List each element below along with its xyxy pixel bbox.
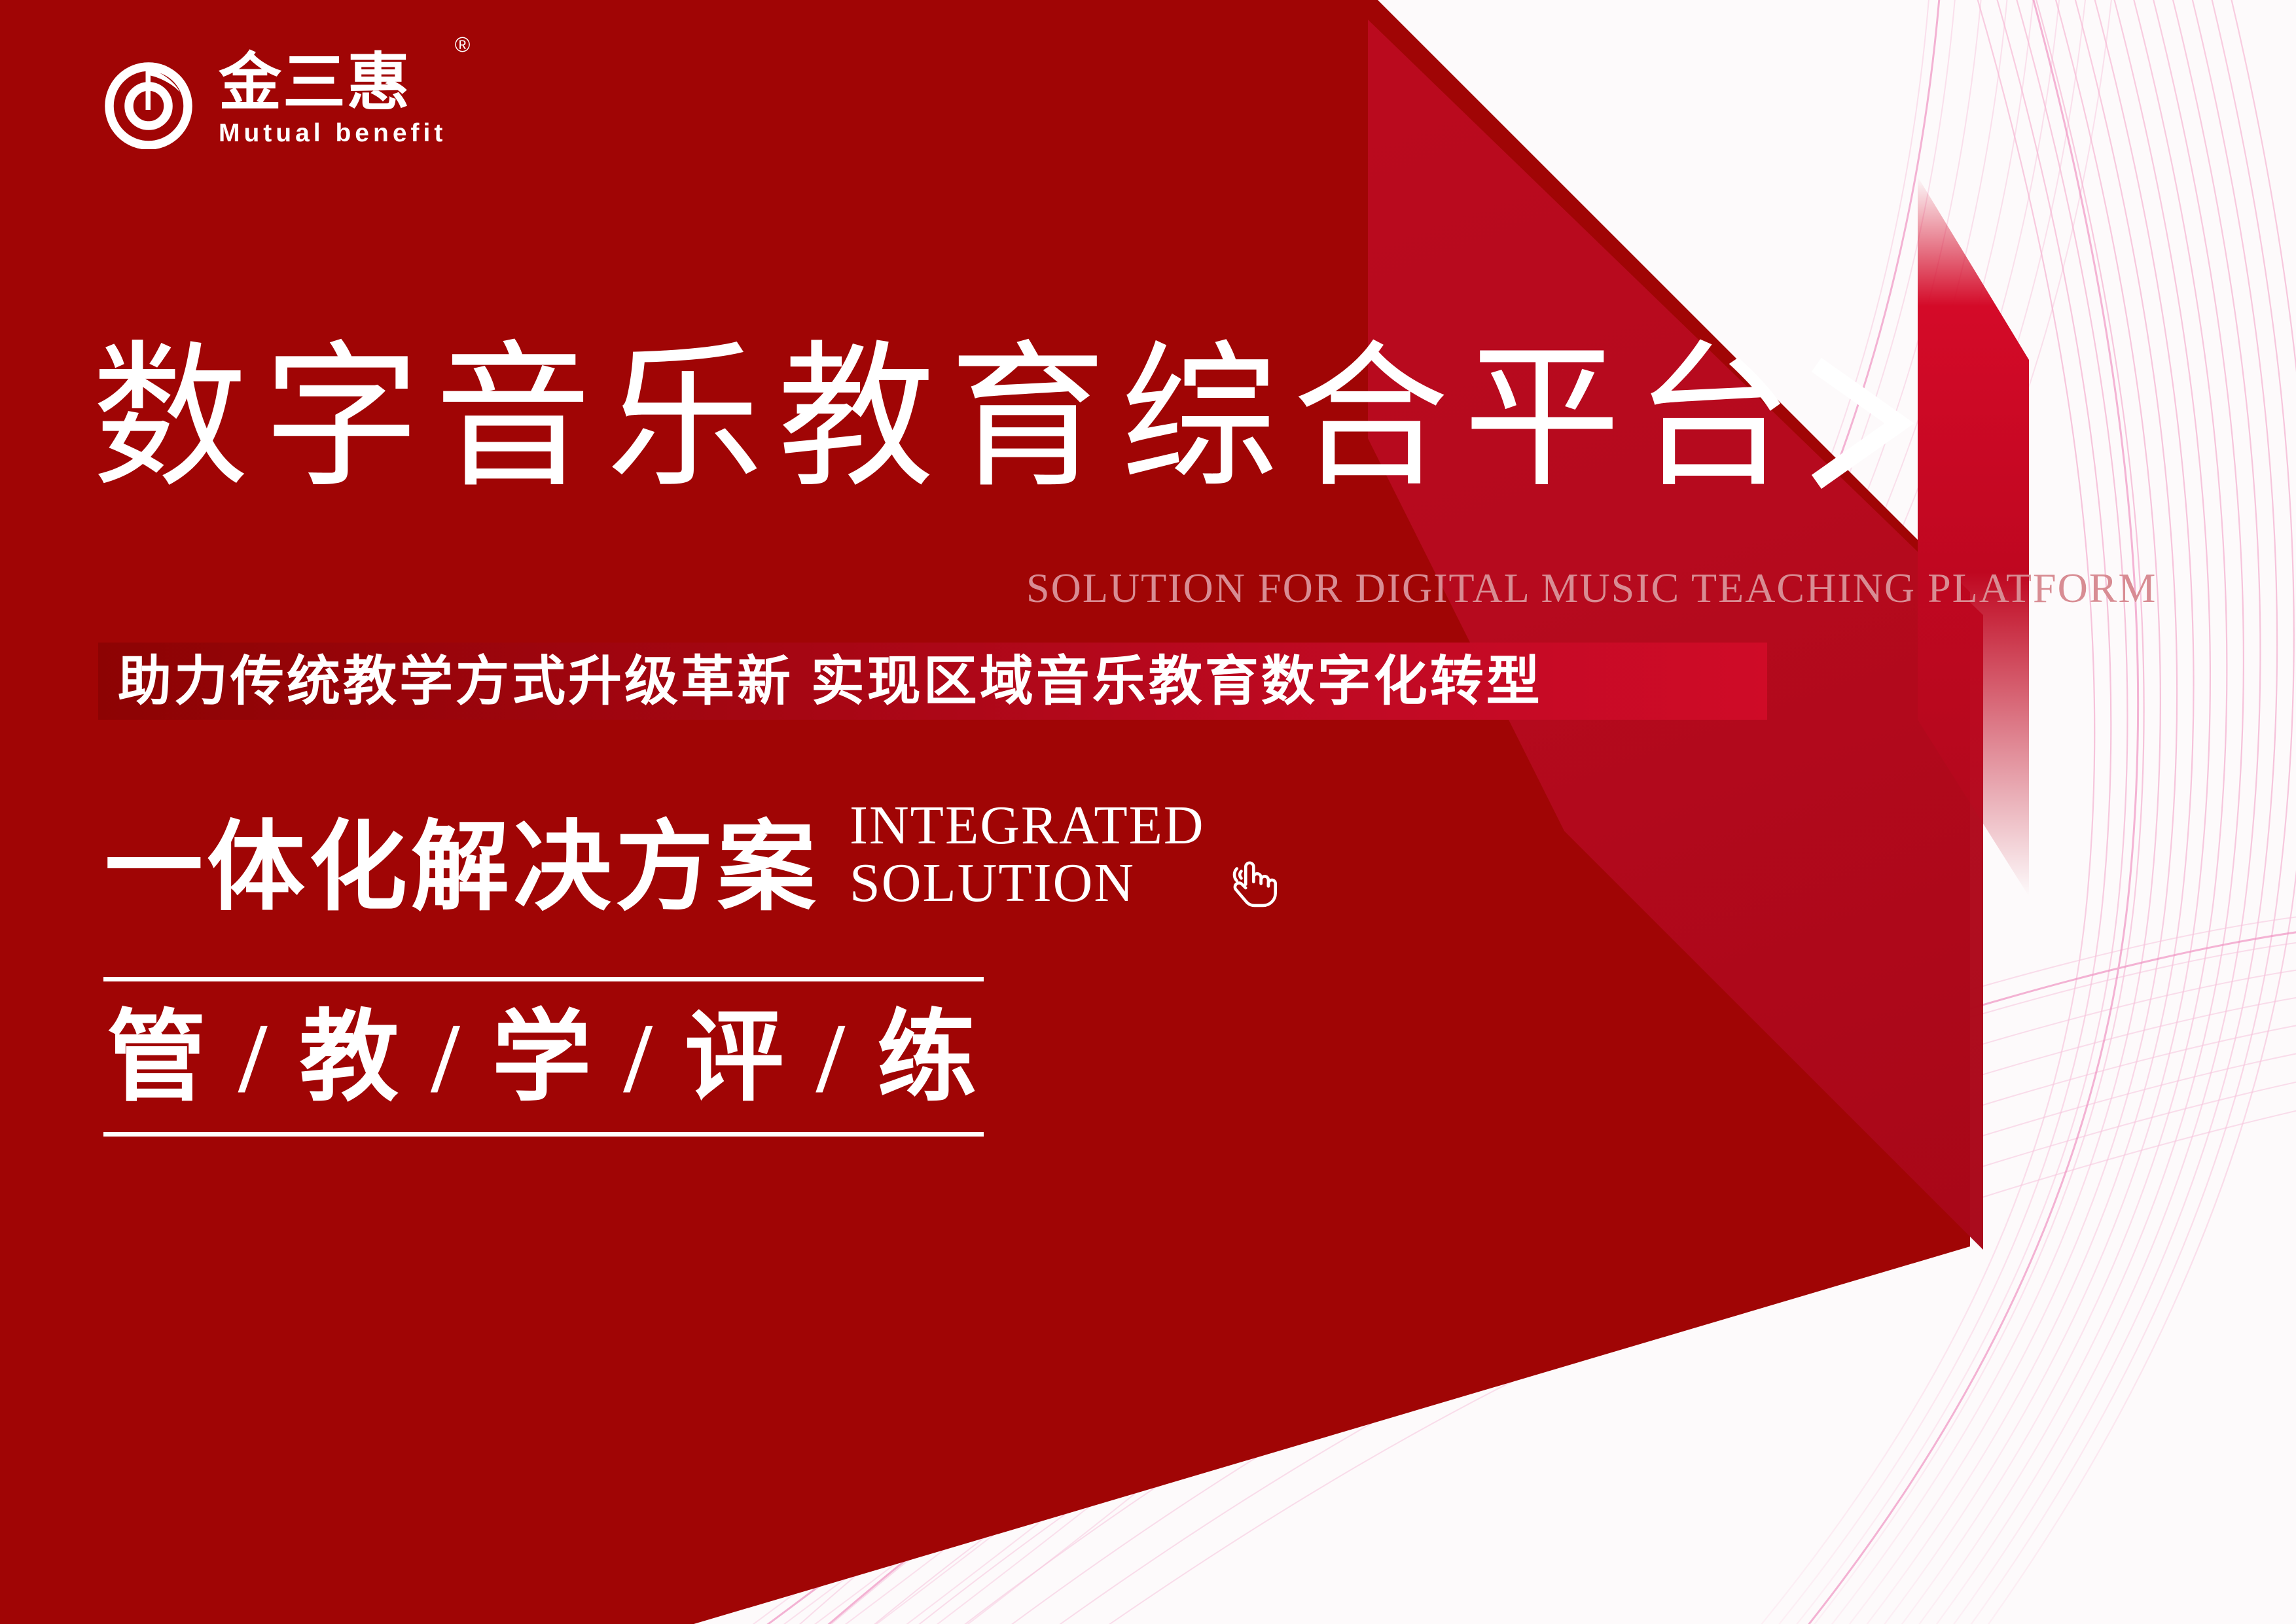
brand-logo: 金三惠 ® Mutual benefit [103,51,446,149]
keyword-rule-bottom [103,1132,984,1137]
page-title: 数字音乐教育综合平台 [92,340,1806,497]
poster-content: 金三惠 ® Mutual benefit 数字音乐教育综合平台 SOLUTION… [0,0,2296,1624]
pointing-hand-icon [1225,855,1281,911]
keyword-rule-top [103,977,984,981]
solution-title-en-line1: INTEGRATED [850,797,1205,855]
solution-title-en-line2: SOLUTION [850,855,1205,912]
brand-name-cn: 金三惠 ® [219,51,446,114]
hero-tagline: 助力传统教学方式升级革新 实现区域音乐教育数字化转型 [118,649,1543,715]
brand-name-cn-text: 金三惠 [219,46,411,119]
solution-heading: 一体化解决方案 INTEGRATED SOLUTION [105,797,1281,917]
chevron-right-icon [1803,358,1920,489]
poster-canvas: 金三惠 ® Mutual benefit 数字音乐教育综合平台 SOLUTION… [0,0,2296,1624]
brand-wordmark: 金三惠 ® Mutual benefit [219,51,446,148]
brand-name-en: Mutual benefit [219,119,446,148]
keyword-list: 管 / 教 / 学 / 评 / 练 [103,981,984,1132]
keyword-block: 管 / 教 / 学 / 评 / 练 [103,977,984,1137]
music-note-circle-logo-icon [103,51,202,149]
registered-trademark-icon: ® [455,34,472,55]
solution-title-cn: 一体化解决方案 [105,819,819,917]
hero-subtitle-en: SOLUTION FOR DIGITAL MUSIC TEACHING PLAT… [1026,564,2157,612]
hero-headline: 数字音乐教育综合平台 [92,340,1920,497]
solution-title-en: INTEGRATED SOLUTION [850,797,1205,912]
